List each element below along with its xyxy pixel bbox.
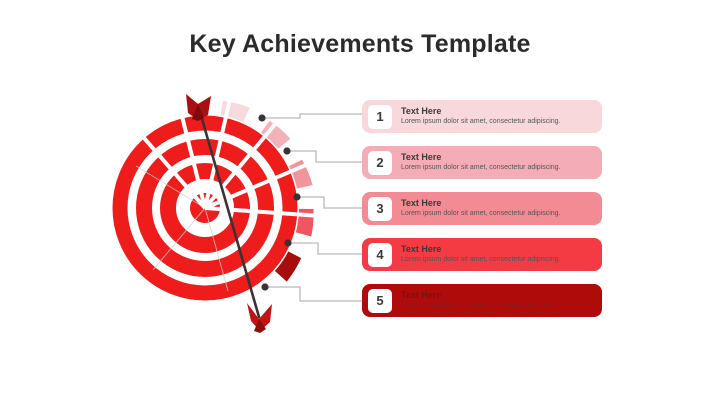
item-text-block: Text Here Lorem ipsum dolor sit amet, co… [401,290,602,311]
achievement-item-2[interactable]: 2 Text Here Lorem ipsum dolor sit amet, … [362,146,602,179]
achievement-item-5[interactable]: 5 Text Here Lorem ipsum dolor sit amet, … [362,284,602,317]
item-description: Lorem ipsum dolor sit amet, consectetur … [401,117,602,127]
slide-canvas: Key Achievements Template [0,0,720,404]
item-text-block: Text Here Lorem ipsum dolor sit amet, co… [401,198,602,219]
item-number-badge: 2 [368,151,392,175]
item-heading: Text Here [401,152,602,163]
item-heading: Text Here [401,290,602,301]
target-bullseye-graphic [108,88,358,340]
item-description: Lorem ipsum dolor sit amet, consectetur … [401,255,602,265]
item-text-block: Text Here Lorem ipsum dolor sit amet, co… [401,106,602,127]
item-number-badge: 4 [368,243,392,267]
item-number-badge: 1 [368,105,392,129]
achievement-item-3[interactable]: 3 Text Here Lorem ipsum dolor sit amet, … [362,192,602,225]
item-heading: Text Here [401,198,602,209]
arc-segment-group [111,96,318,302]
item-number-badge: 5 [368,289,392,313]
item-description: Lorem ipsum dolor sit amet, consectetur … [401,163,602,173]
item-description: Lorem ipsum dolor sit amet, consectetur … [401,301,602,311]
item-text-block: Text Here Lorem ipsum dolor sit amet, co… [401,152,602,173]
achievement-item-1[interactable]: 1 Text Here Lorem ipsum dolor sit amet, … [362,100,602,133]
item-number-badge: 3 [368,197,392,221]
item-heading: Text Here [401,244,602,255]
item-text-block: Text Here Lorem ipsum dolor sit amet, co… [401,244,602,265]
achievement-item-4[interactable]: 4 Text Here Lorem ipsum dolor sit amet, … [362,238,602,271]
item-description: Lorem ipsum dolor sit amet, consectetur … [401,209,602,219]
page-title: Key Achievements Template [0,29,720,59]
item-heading: Text Here [401,106,602,117]
